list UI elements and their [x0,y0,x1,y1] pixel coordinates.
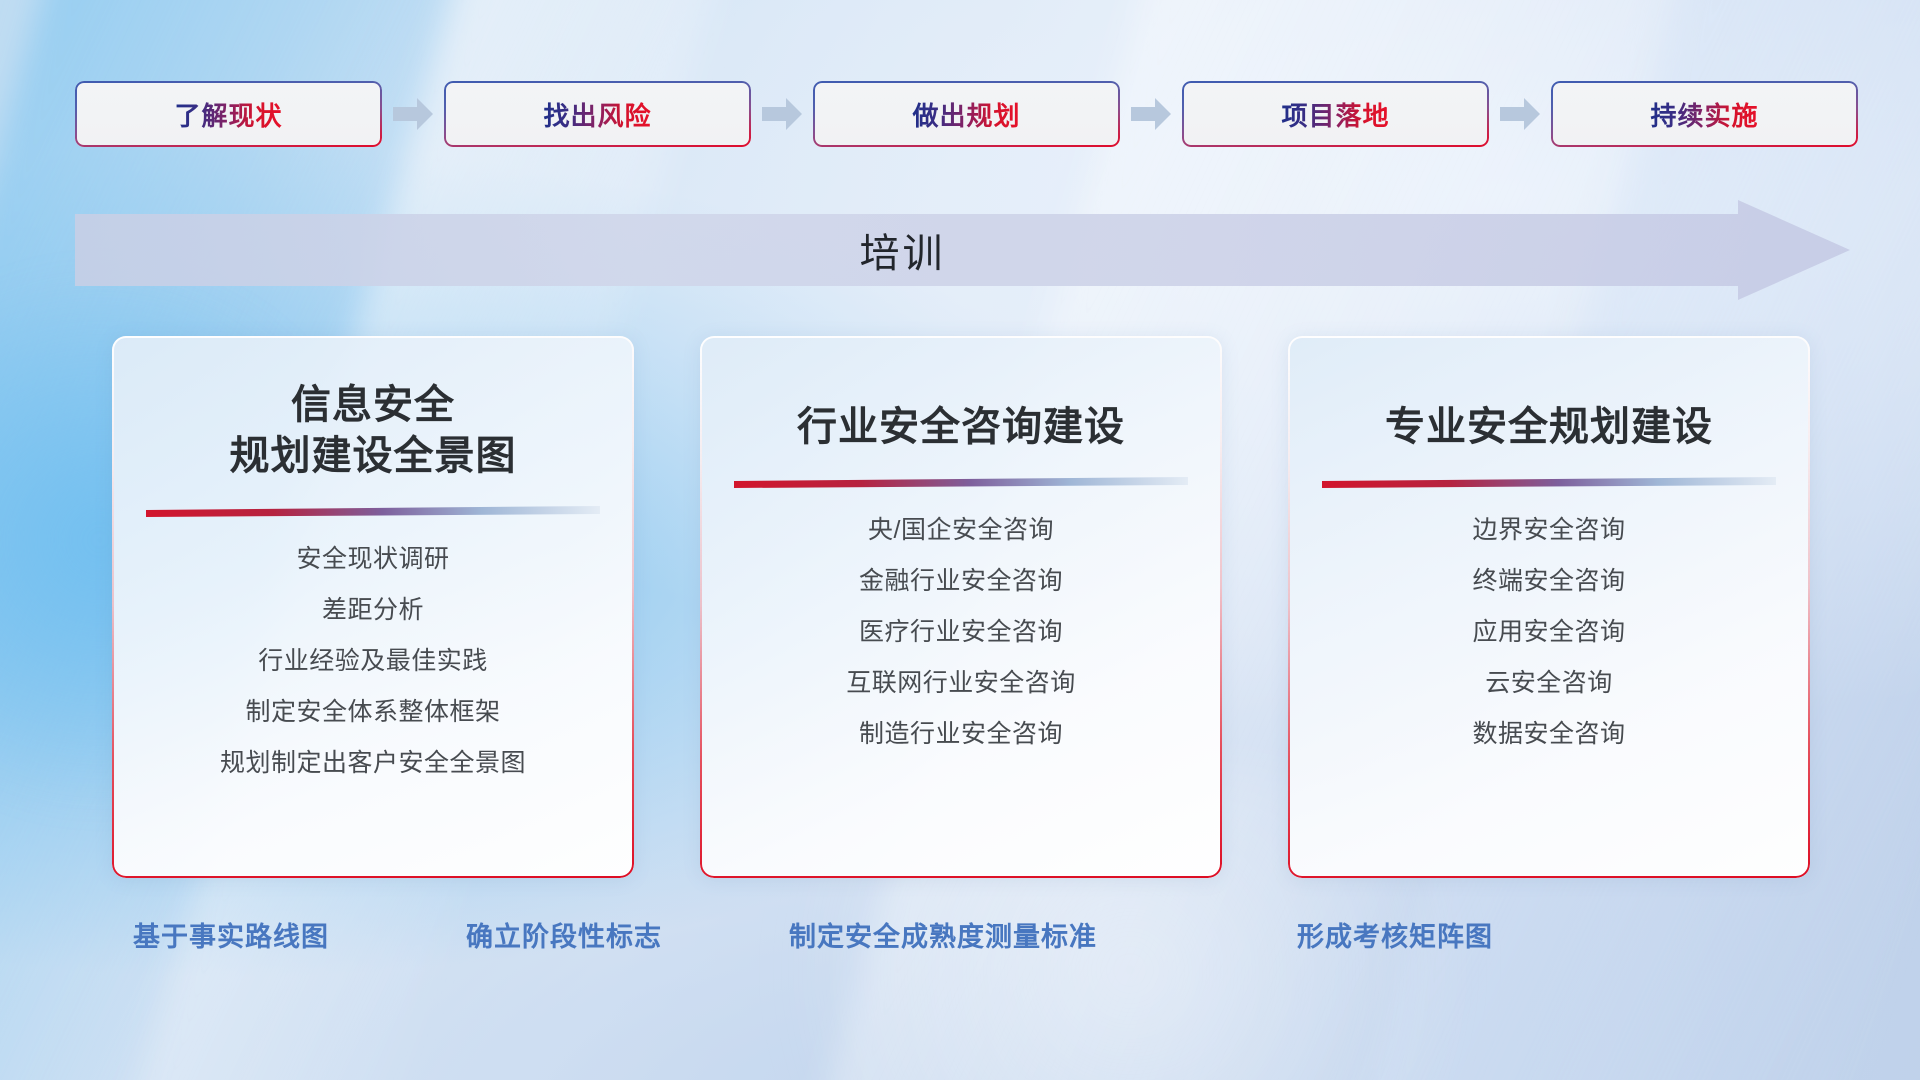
process-step-label: 持续实施 [1650,96,1758,133]
training-banner-label-wrap: 培训 [75,200,1850,300]
arrow-right-icon [1489,80,1551,148]
process-step-label: 了解现状 [174,96,282,133]
bottom-label-row: 基于事实路线图 确立阶段性标志 制定安全成熟度测量标准 形成考核矩阵图 [0,915,1920,963]
arrow-right-icon [382,80,444,148]
list-item: 边界安全咨询 [1472,518,1625,543]
list-item: 规划制定出客户安全全景图 [220,751,526,776]
process-step-1[interactable]: 找出风险 [444,81,751,147]
bottom-label-3: 形成考核矩阵图 [1297,915,1493,954]
process-step-label: 做出规划 [912,96,1020,133]
bottom-label-2: 制定安全成熟度测量标准 [789,915,1097,954]
list-item: 制造行业安全咨询 [859,722,1063,747]
list-item: 金融行业安全咨询 [859,569,1063,594]
card-title: 信息安全 规划建设全景图 [230,380,517,482]
card-list: 央/国企安全咨询 金融行业安全咨询 医疗行业安全咨询 互联网行业安全咨询 制造行… [726,518,1196,747]
list-item: 行业经验及最佳实践 [258,649,488,674]
process-step-label: 找出风险 [543,96,651,133]
card-information-security-blueprint[interactable]: 信息安全 规划建设全景图 [112,336,634,878]
bottom-label-1: 确立阶段性标志 [466,915,662,954]
list-item: 制定安全体系整体框架 [245,700,500,725]
card-row: 信息安全 规划建设全景图 [112,336,1812,878]
arrow-right-icon [1120,80,1182,148]
training-banner: 培训 [75,200,1850,300]
card-divider [734,477,1188,488]
card-title: 行业安全咨询建设 [797,402,1125,453]
card-list: 边界安全咨询 终端安全咨询 应用安全咨询 云安全咨询 数据安全咨询 [1314,518,1784,747]
list-item: 数据安全咨询 [1472,722,1625,747]
process-step-4[interactable]: 持续实施 [1551,81,1858,147]
list-item: 央/国企安全咨询 [868,518,1054,543]
card-divider [146,506,600,517]
list-item: 互联网行业安全咨询 [846,671,1076,696]
list-item: 差距分析 [322,598,424,623]
list-item: 医疗行业安全咨询 [859,620,1063,645]
arrow-right-icon [751,80,813,148]
process-step-3[interactable]: 项目落地 [1182,81,1489,147]
card-industry-security-consulting[interactable]: 行业安全咨询建设 [700,336,1222,878]
list-item: 应用安全咨询 [1472,620,1625,645]
list-item: 安全现状调研 [296,547,449,572]
bottom-label-0: 基于事实路线图 [133,915,329,954]
card-content: 信息安全 规划建设全景图 [112,336,634,878]
process-step-label: 项目落地 [1281,96,1389,133]
card-professional-security-planning[interactable]: 专业安全规划建设 [1288,336,1810,878]
card-divider [1322,477,1776,488]
training-banner-label: 培训 [860,221,946,279]
card-content: 行业安全咨询建设 [700,336,1222,878]
card-title: 专业安全规划建设 [1385,402,1713,453]
card-content: 专业安全规划建设 [1288,336,1810,878]
process-step-row: 了解现状 找出风险 做出规划 项目落地 持续实施 [75,80,1850,148]
slide-canvas: 了解现状 找出风险 做出规划 项目落地 持续实施 [0,0,1920,1080]
process-step-2[interactable]: 做出规划 [813,81,1120,147]
list-item: 云安全咨询 [1485,671,1613,696]
process-step-0[interactable]: 了解现状 [75,81,382,147]
card-list: 安全现状调研 差距分析 行业经验及最佳实践 制定安全体系整体框架 规划制定出客户… [138,547,608,776]
list-item: 终端安全咨询 [1472,569,1625,594]
